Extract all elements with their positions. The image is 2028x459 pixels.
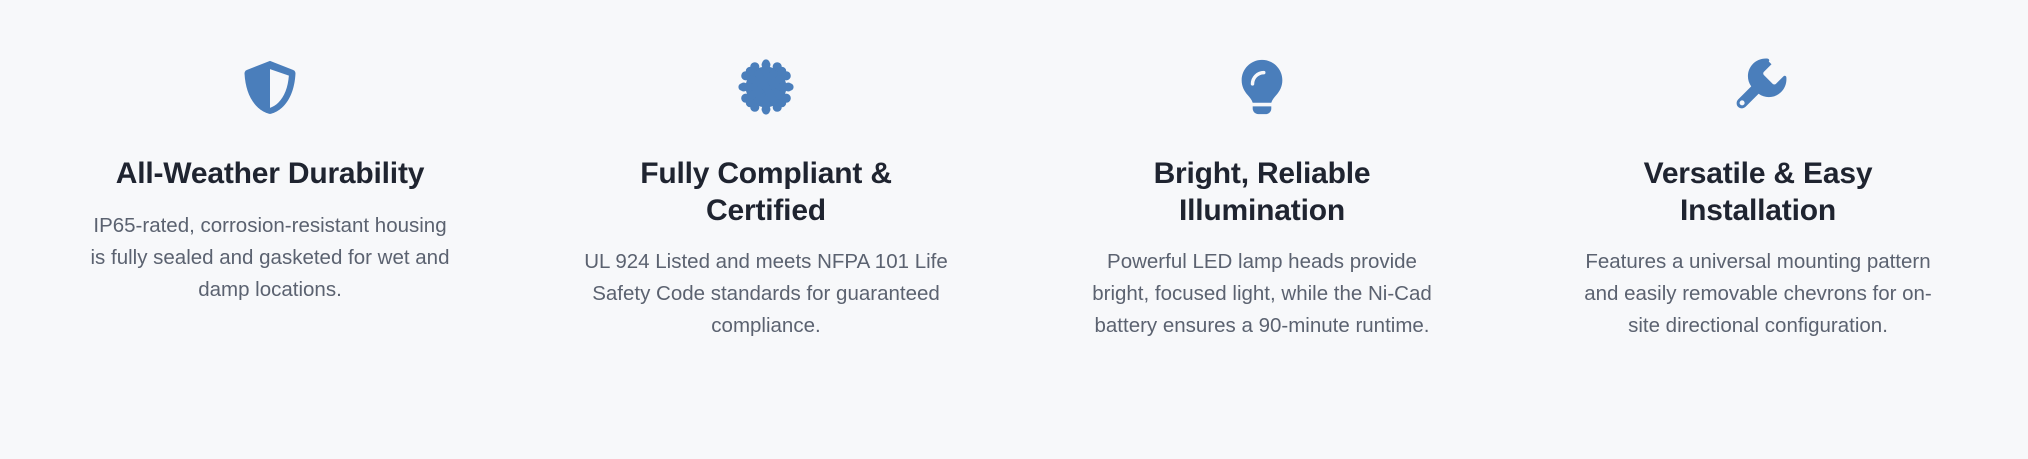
feature-card: Bright, Reliable Illumination Powerful L…: [1014, 0, 1510, 342]
feature-description: Features a universal mounting pattern an…: [1578, 246, 1938, 342]
feature-description: UL 924 Listed and meets NFPA 101 Life Sa…: [581, 246, 951, 342]
feature-title: Versatile & Easy Installation: [1628, 156, 1888, 229]
feature-title: Fully Compliant & Certified: [616, 156, 916, 229]
feature-title: All-Weather Durability: [116, 156, 424, 193]
feature-title: Bright, Reliable Illumination: [1130, 156, 1395, 229]
shield-icon: [239, 56, 301, 118]
certified-badge-icon: [735, 56, 797, 118]
wrench-icon: [1727, 56, 1789, 118]
feature-card: Versatile & Easy Installation Features a…: [1510, 0, 2006, 342]
feature-description: Powerful LED lamp heads provide bright, …: [1086, 246, 1438, 342]
feature-card: All-Weather Durability IP65-rated, corro…: [22, 0, 518, 306]
lightbulb-icon: [1231, 56, 1293, 118]
feature-card: Fully Compliant & Certified UL 924 Liste…: [518, 0, 1014, 342]
feature-description: IP65-rated, corrosion-resistant housing …: [86, 210, 454, 306]
product-feature-highlights: All-Weather Durability IP65-rated, corro…: [0, 0, 2028, 459]
